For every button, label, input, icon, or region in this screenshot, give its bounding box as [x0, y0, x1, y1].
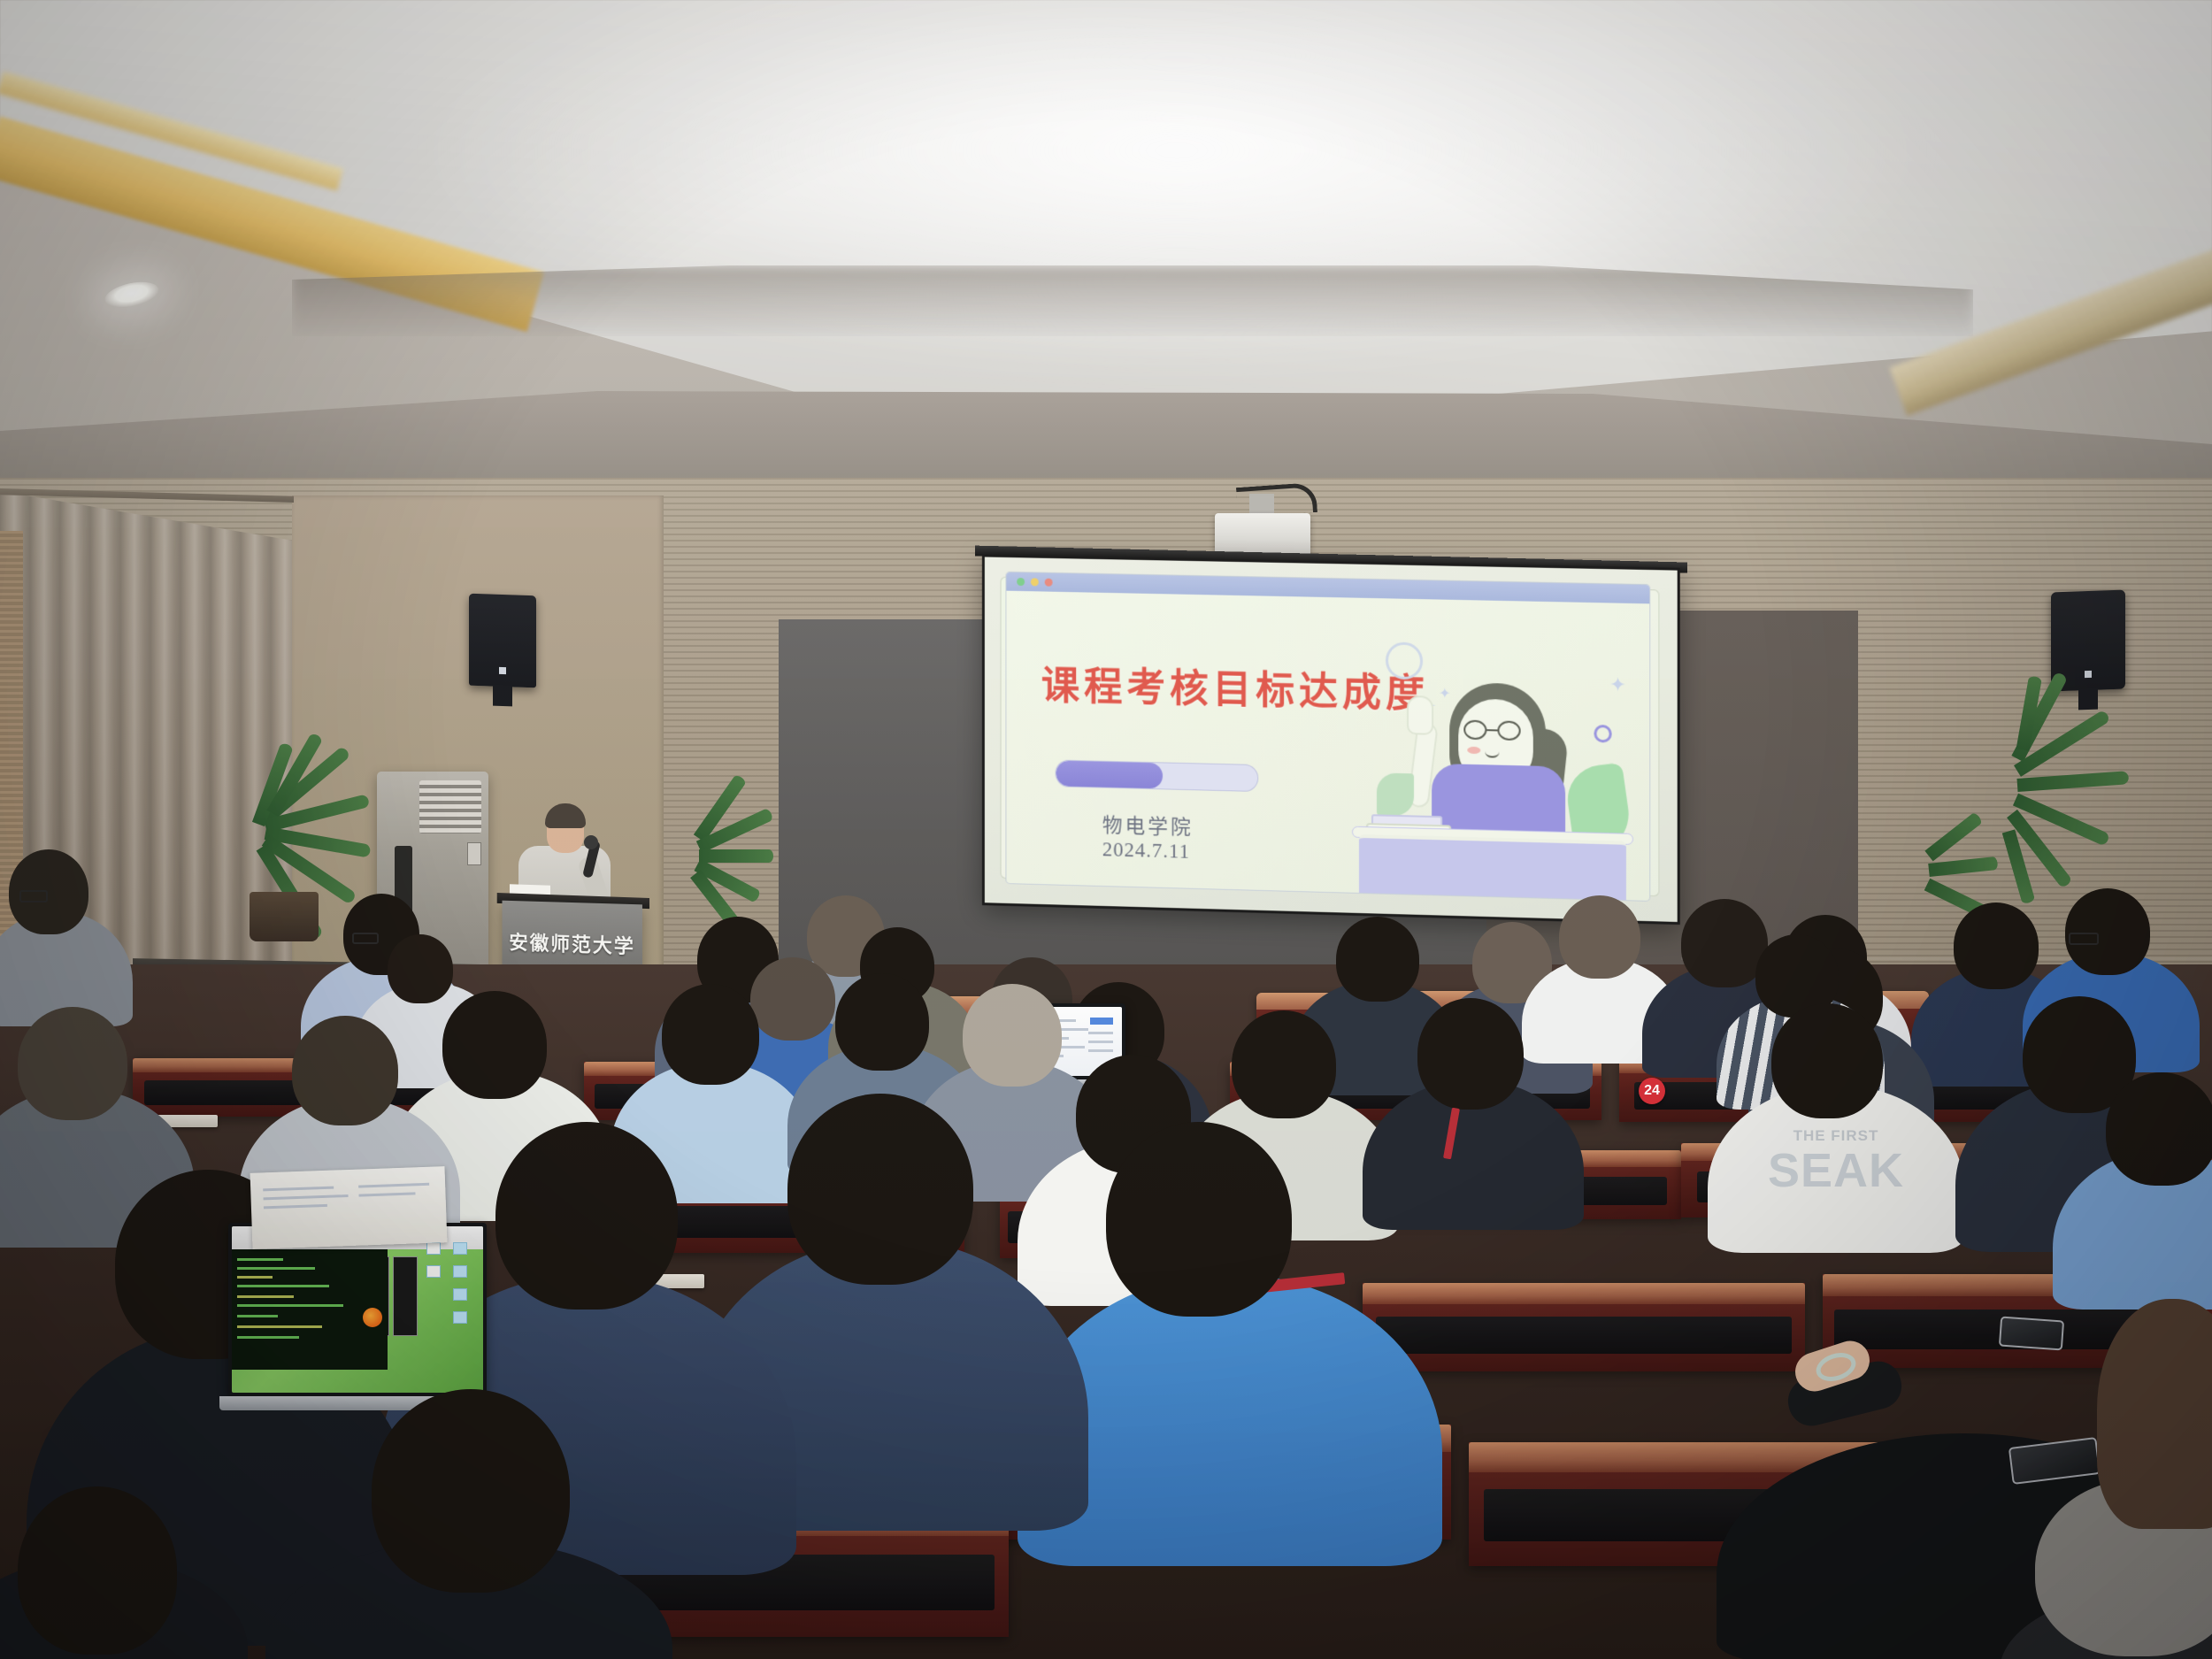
- slide-progress-fill: [1056, 761, 1163, 789]
- wall-speaker-left: [469, 594, 536, 688]
- lecture-hall-photo: 课程考核目标达成度 物电学院 2024.7.11 ✦ ✦ ✦: [0, 0, 2212, 1659]
- desktop-icon[interactable]: [426, 1242, 441, 1255]
- figure-desk: [1359, 834, 1626, 900]
- slide-browser-window: 课程考核目标达成度 物电学院 2024.7.11 ✦ ✦ ✦: [1005, 572, 1650, 902]
- microphone-head-icon: [584, 835, 598, 849]
- firefox-icon[interactable]: [363, 1308, 382, 1327]
- ac-control-panel: [467, 842, 481, 865]
- window-dot-yellow-icon: [1031, 578, 1039, 586]
- figure-desk-plant: [1377, 772, 1414, 816]
- sparkle-icon: ✦: [1609, 675, 1626, 695]
- laptop-terminal-window: [232, 1249, 388, 1369]
- slide-organization: 物电学院: [1102, 809, 1194, 841]
- projection-surface: 课程考核目标达成度 物电学院 2024.7.11 ✦ ✦ ✦: [985, 557, 1678, 922]
- speaker-mount: [2078, 688, 2098, 710]
- figure-glasses-icon: [1462, 719, 1527, 741]
- desktop-icon[interactable]: [453, 1265, 467, 1278]
- slide-date: 2024.7.11: [1102, 838, 1190, 864]
- desktop-icon[interactable]: [453, 1311, 467, 1324]
- podium-university-name: 安徽师范大学: [503, 926, 642, 960]
- seat-number-badge: 24: [1639, 1078, 1665, 1104]
- projection-screen: 课程考核目标达成度 物电学院 2024.7.11 ✦ ✦ ✦: [982, 554, 1680, 925]
- slide-progress-bar: [1056, 760, 1259, 793]
- figure-pointing-hand-icon: [1407, 695, 1433, 735]
- desktop-icon[interactable]: [453, 1288, 467, 1301]
- tee-text-line1: THE FIRST: [1708, 1127, 1964, 1145]
- glasses-icon: [2069, 933, 2099, 945]
- sparkle-icon: ✦: [1439, 687, 1450, 702]
- seat-row[interactable]: [1363, 1283, 1805, 1371]
- printed-handout[interactable]: [250, 1166, 448, 1249]
- figure-cheek: [1467, 747, 1480, 754]
- decor-circle-small-icon: [1594, 725, 1611, 743]
- slide-illustration: ✦ ✦ ✦: [1350, 627, 1644, 901]
- window-dot-green-icon: [1017, 578, 1025, 586]
- speaker-led-icon: [2085, 671, 2092, 678]
- tablet-device[interactable]: [1999, 1317, 2064, 1351]
- speaker-mount: [493, 685, 512, 707]
- tee-text-line2: SEAK: [1708, 1143, 1964, 1198]
- ac-vent-grille: [419, 780, 481, 833]
- desktop-icon[interactable]: [426, 1265, 441, 1278]
- desktop-icon[interactable]: [453, 1242, 467, 1255]
- decor-circle-icon: [1386, 641, 1423, 680]
- glasses-icon: [19, 890, 48, 902]
- slide-titlebar: [1006, 572, 1649, 604]
- speaker-led-icon: [499, 667, 506, 674]
- ceiling-shadow-band: [292, 265, 1973, 336]
- laptop-terminal[interactable]: [228, 1223, 487, 1416]
- window-dot-red-icon: [1045, 579, 1053, 587]
- glasses-icon: [352, 933, 379, 944]
